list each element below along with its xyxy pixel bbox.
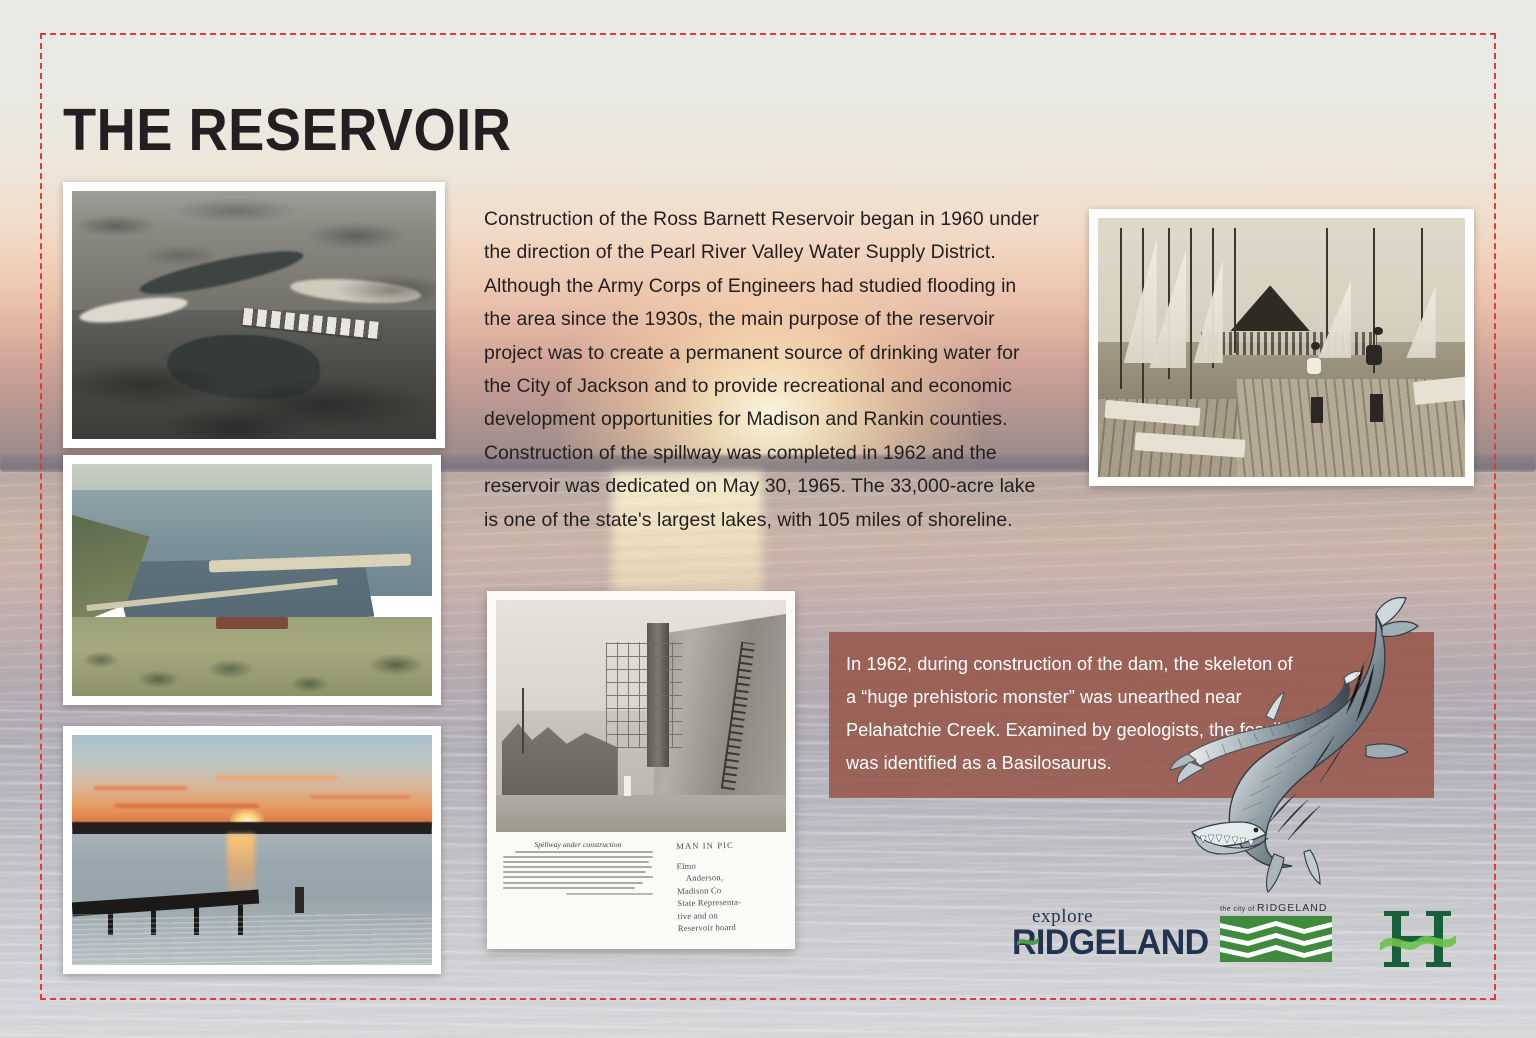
basilosaurus-illustration	[1170, 596, 1500, 896]
logo-h-monogram	[1378, 903, 1458, 975]
clipping-caption: Spillway under construction	[503, 840, 653, 895]
photo-regatta	[1089, 209, 1474, 486]
clipping-body-text	[503, 851, 653, 895]
logo-city-prefix: the city of	[1220, 904, 1255, 913]
photo-sunset-pier-image	[72, 735, 432, 965]
logo-city-word: RIDGELAND	[1257, 903, 1328, 914]
clipping-spillway-image	[496, 600, 786, 832]
page-title: THE RESERVOIR	[63, 96, 511, 164]
city-flag-waves-icon	[1220, 916, 1332, 962]
photo-aerial-dam	[63, 182, 445, 448]
handwriting-title: MAN IN PIC	[676, 838, 782, 853]
clipping-headline: Spillway under construction	[503, 840, 653, 849]
photo-regatta-image	[1098, 218, 1465, 477]
logo-city-of-ridgeland: the city of RIDGELAND	[1220, 903, 1340, 967]
body-copy: Construction of the Ross Barnett Reservo…	[484, 203, 1044, 537]
interpretive-panel: THE RESERVOIR Construction of the Ross B…	[0, 0, 1536, 1038]
logo-city-tagline: the city of RIDGELAND	[1220, 903, 1340, 914]
photo-aerial-marina-image	[72, 464, 432, 696]
photo-sunset-pier	[63, 726, 441, 974]
clipping-spillway: Spillway under construction MAN IN PIC E…	[487, 591, 795, 949]
photo-aerial-dam-image	[72, 191, 436, 439]
photo-aerial-marina	[63, 455, 441, 705]
logo-explore-ridgeland-word: RIDGELAND	[1012, 925, 1201, 960]
clipping-handwriting: MAN IN PIC Elmo Anderson, Madison Co Sta…	[676, 838, 784, 935]
green-swoosh-icon	[1017, 933, 1039, 946]
logo-explore-ridgeland: explore RIDGELAND	[1012, 907, 1207, 960]
handwriting-line: Reservoir board	[678, 920, 784, 935]
